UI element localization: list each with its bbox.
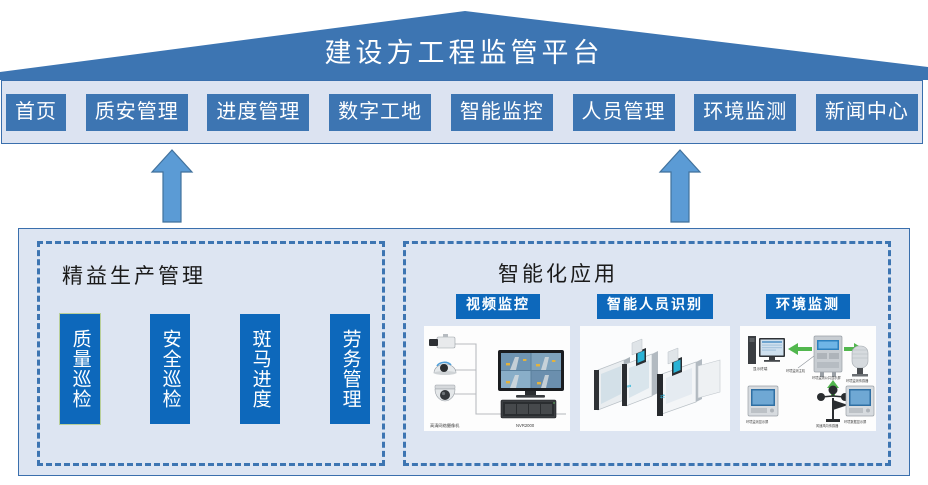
svg-text:⇄: ⇄ xyxy=(627,384,631,390)
card-zebra-progress[interactable]: 斑马进度 xyxy=(240,314,280,424)
tile-smart-personnel-recognition-label[interactable]: 智能人员识别 xyxy=(597,294,713,319)
environment-monitoring-illustration: 显示终端 xyxy=(740,326,876,431)
svg-text:高清网络摄像机: 高清网络摄像机 xyxy=(430,422,460,429)
video-surveillance-diagram-image: 高清网络摄像机 NVR2000 xyxy=(424,326,570,431)
tile-smart-personnel-recognition[interactable]: 智能人员识别 xyxy=(580,294,730,431)
nav-item-quality-safety[interactable]: 质安管理 xyxy=(86,94,188,131)
nav-item-smart-monitor[interactable]: 智能监控 xyxy=(451,94,553,131)
nav-item-progress[interactable]: 进度管理 xyxy=(207,94,309,131)
card-labor-management[interactable]: 劳务管理 xyxy=(330,314,370,424)
lean-production-card-list: 质量巡检 安全巡检 斑马进度 劳务管理 xyxy=(60,314,370,424)
svg-text:环境监测主机: 环境监测主机 xyxy=(786,368,806,373)
svg-text:环境数据显示屏: 环境数据显示屏 xyxy=(844,419,867,424)
page-title: 建设方工程监管平台 xyxy=(0,40,928,67)
svg-text:环境监测显示屏: 环境监测显示屏 xyxy=(746,419,769,424)
group-intelligent-application: 智能化应用 视频监控 xyxy=(403,241,891,466)
card-safety-inspection[interactable]: 安全巡检 xyxy=(150,314,190,424)
svg-text:风速风向传感器: 风速风向传感器 xyxy=(816,423,839,428)
nav-item-environment[interactable]: 环境监测 xyxy=(694,94,796,131)
arrow-to-personnel-icon xyxy=(658,148,702,224)
intelligent-application-tile-list: 视频监控 xyxy=(424,294,876,431)
card-quality-inspection[interactable]: 质量巡检 xyxy=(60,314,100,424)
tile-environment-monitoring[interactable]: 环境监测 xyxy=(740,294,876,431)
nav-item-news-center[interactable]: 新闻中心 xyxy=(816,94,918,131)
nav-item-home[interactable]: 首页 xyxy=(6,94,66,131)
svg-text:环境监测传感器: 环境监测传感器 xyxy=(846,378,869,383)
main-navigation-bar: 首页 质安管理 进度管理 数字工地 智能监控 人员管理 环境监测 新闻中心 xyxy=(1,80,923,144)
svg-text:⇄: ⇄ xyxy=(660,393,665,400)
svg-text:显示终端: 显示终端 xyxy=(753,366,768,371)
roof-banner: 建设方工程监管平台 xyxy=(0,0,928,80)
group-intelligent-application-title: 智能化应用 xyxy=(498,264,618,285)
speed-gate-turnstiles-image: ⇄ ⇄ xyxy=(580,326,730,431)
svg-text:环境监测公共显示屏: 环境监测公共显示屏 xyxy=(812,375,841,380)
tile-video-surveillance[interactable]: 视频监控 xyxy=(424,294,570,431)
nav-item-personnel[interactable]: 人员管理 xyxy=(573,94,675,131)
arrow-to-quality-safety-icon xyxy=(150,148,194,224)
group-lean-production: 精益生产管理 质量巡检 安全巡检 斑马进度 劳务管理 xyxy=(37,241,385,466)
environment-monitoring-diagram-image: 显示终端 xyxy=(740,326,876,431)
group-lean-production-title: 精益生产管理 xyxy=(62,266,206,287)
nav-item-digital-site[interactable]: 数字工地 xyxy=(329,94,431,131)
tile-video-surveillance-label[interactable]: 视频监控 xyxy=(456,294,540,319)
capabilities-panel: 精益生产管理 质量巡检 安全巡检 斑马进度 劳务管理 智能化应用 视频监控 xyxy=(18,228,910,476)
svg-text:NVR2000: NVR2000 xyxy=(516,423,535,428)
speed-gate-illustration: ⇄ ⇄ xyxy=(580,326,730,431)
tile-environment-monitoring-label[interactable]: 环境监测 xyxy=(766,294,850,319)
video-surveillance-illustration: 高清网络摄像机 NVR2000 xyxy=(424,326,570,431)
